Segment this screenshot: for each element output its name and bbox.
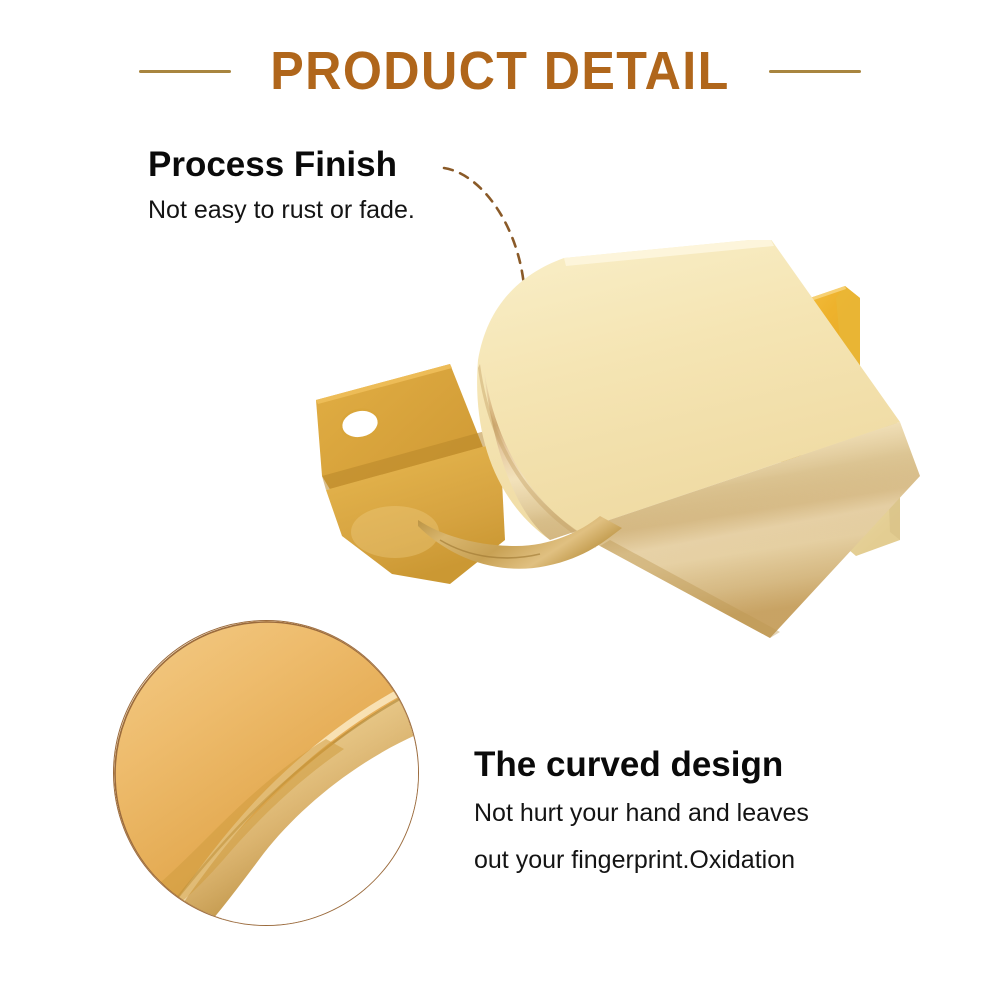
callout-subtext-curved-design-line1: Not hurt your hand and leaves [474,796,809,832]
product-photo-gold-handles [300,240,940,640]
inset-macro-image [114,621,419,926]
product-detail-page: PRODUCT DETAIL Process Finish Not easy t… [0,0,1000,1000]
callout-heading-process-finish: Process Finish [148,146,415,184]
callout-curved-design: The curved design Not hurt your hand and… [474,746,809,879]
callout-subtext-curved-design-line2: out your fingerprint.Oxidation [474,843,809,879]
page-title: PRODUCT DETAIL [270,40,729,102]
left-divider-rule [139,70,231,73]
right-divider-rule [769,70,861,73]
callout-subtext-process-finish: Not easy to rust or fade. [148,193,415,229]
page-header: PRODUCT DETAIL [0,36,1000,106]
callout-process-finish: Process Finish Not easy to rust or fade. [148,146,415,228]
callout-heading-curved-design: The curved design [474,746,809,784]
inset-circle-curved-edge [113,620,419,926]
